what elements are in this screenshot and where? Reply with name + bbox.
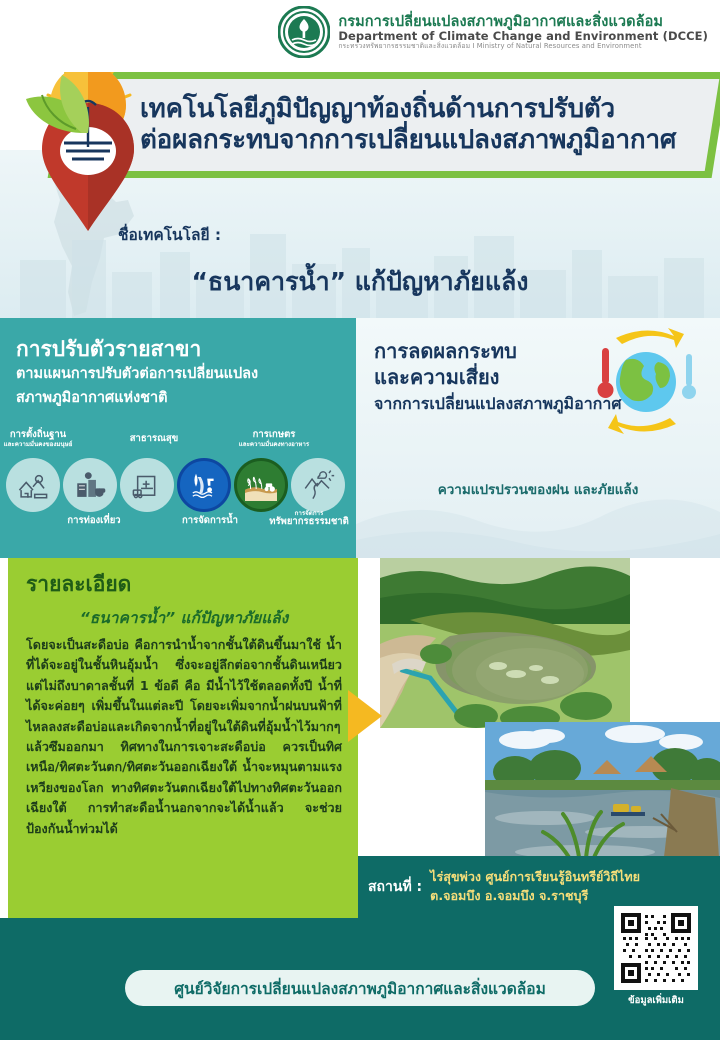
ministry-name: กระทรวงทรัพยากรธรรมชาติและสิ่งแวดล้อม I … xyxy=(338,43,708,51)
tech-name: “ธนาคารน้ำ” แก้ปัญหาภัยแล้ง xyxy=(0,262,720,302)
right-panel-note: ความแปรปรวนของฝน และภัยแล้ง xyxy=(356,478,720,500)
details-subheading: “ธนาคารน้ำ” แก้ปัญหาภัยแล้ง xyxy=(26,605,342,630)
research-center-badge[interactable]: ศูนย์วิจัยการเปลี่ยนแปลงสภาพภูมิอากาศและ… xyxy=(125,970,595,1006)
left-panel-sub-2: สภาพภูมิอากาศแห่งชาติ xyxy=(16,388,342,410)
org-name-en: Department of Climate Change and Environ… xyxy=(338,30,708,43)
left-panel-sub-1: ตามแผนการปรับตัวต่อการเปลี่ยนแปลง xyxy=(16,364,342,386)
sector-label-natural-resources: การจัดการ ทรัพยากรธรรมชาติ xyxy=(264,510,354,528)
play-arrow-icon xyxy=(348,690,382,742)
sector-label-agriculture: การเกษตร และความมั่นคงทางอาหาร xyxy=(234,430,314,448)
details-panel: รายละเอียด “ธนาคารน้ำ” แก้ปัญหาภัยแล้ง โ… xyxy=(8,558,358,918)
water-management-icon[interactable] xyxy=(177,458,231,512)
poster-header: กรมการเปลี่ยนแปลงสภาพภูมิอากาศและสิ่งแวด… xyxy=(0,0,720,72)
natural-resources-icon[interactable] xyxy=(291,458,345,512)
pond-aerial-illustration xyxy=(380,558,630,728)
location-line-2: ต.จอมบึง อ.จอมบึง จ.ราชบุรี xyxy=(430,887,640,906)
sector-icons xyxy=(6,458,345,512)
banner-text-block: เทคโนโลยีภูมิปัญญาท้องถิ่นด้านการปรับตัว… xyxy=(140,82,700,168)
poster-footer: ศูนย์วิจัยการเปลี่ยนแปลงสภาพภูมิอากาศและ… xyxy=(0,918,720,1040)
public-health-icon[interactable] xyxy=(120,458,174,512)
research-center-label: ศูนย์วิจัยการเปลี่ยนแปลงสภาพภูมิอากาศและ… xyxy=(174,976,546,1001)
banner-line-1: เทคโนโลยีภูมิปัญญาท้องถิ่นด้านการปรับตัว xyxy=(140,94,700,125)
sector-label-public-health: สาธารณสุข xyxy=(118,434,190,445)
details-heading: รายละเอียด xyxy=(26,568,342,601)
thermometer-blue-icon xyxy=(682,354,696,399)
qr-caption: ข้อมูลเพิ่มเติม xyxy=(614,993,698,1008)
sector-label-tourism: การท่องเที่ยว xyxy=(56,516,132,527)
poster-root: กรมการเปลี่ยนแปลงสภาพภูมิอากาศและสิ่งแวด… xyxy=(0,0,720,1040)
qr-block[interactable]: ข้อมูลเพิ่มเติม xyxy=(614,906,698,1010)
location-line-1: ไร่สุขพ่วง ศูนย์การเรียนรู้อินทรีย์วิถีไ… xyxy=(430,868,640,887)
agriculture-icon[interactable] xyxy=(234,458,288,512)
qr-code-icon[interactable] xyxy=(614,906,698,990)
sector-adaptation-panel: การปรับตัวรายสาขา ตามแผนการปรับตัวต่อการ… xyxy=(0,318,356,558)
pond-waterside-photo xyxy=(485,722,720,872)
tech-label: ชื่อเทคโนโลยี : xyxy=(118,222,221,247)
left-panel-heading: การปรับตัวรายสาขา xyxy=(16,336,342,362)
dcce-logo-block: กรมการเปลี่ยนแปลงสภาพภูมิอากาศและสิ่งแวด… xyxy=(278,6,708,58)
banner-line-2: ต่อผลกระทบจากการเปลี่ยนแปลงสภาพภูมิอากาศ xyxy=(140,125,700,156)
settlement-icon[interactable] xyxy=(6,458,60,512)
location-label: สถานที่ : xyxy=(368,876,422,898)
dcce-emblem-icon xyxy=(278,6,330,58)
sector-icon-row: การตั้งถิ่นฐาน และความมั่นคงของมนุษย์ สา… xyxy=(0,432,356,544)
thermometer-red-icon xyxy=(598,348,614,398)
details-body: โดยจะเป็นสะดือบ่อ คือการนำน้ำจากชั้นใต้ด… xyxy=(26,635,342,839)
logo-text-block: กรมการเปลี่ยนแปลงสภาพภูมิอากาศและสิ่งแวด… xyxy=(338,14,708,51)
org-name-th: กรมการเปลี่ยนแปลงสภาพภูมิอากาศและสิ่งแวด… xyxy=(338,14,708,30)
sector-label-water: การจัดการน้ำ xyxy=(172,516,248,527)
globe-thermometer-icon xyxy=(586,324,706,442)
lightbulb-leaf-pin-icon xyxy=(18,55,158,245)
pond-waterside-illustration xyxy=(485,722,720,872)
location-values: ไร่สุขพ่วง ศูนย์การเรียนรู้อินทรีย์วิถีไ… xyxy=(430,868,640,906)
mitigation-risk-panel: การลดผลกระทบ และความเสี่ยง จากการเปลี่ยน… xyxy=(356,318,720,558)
pond-aerial-photo xyxy=(380,558,630,728)
sector-label-settlement: การตั้งถิ่นฐาน และความมั่นคงของมนุษย์ xyxy=(2,430,74,448)
tourism-icon[interactable] xyxy=(63,458,117,512)
